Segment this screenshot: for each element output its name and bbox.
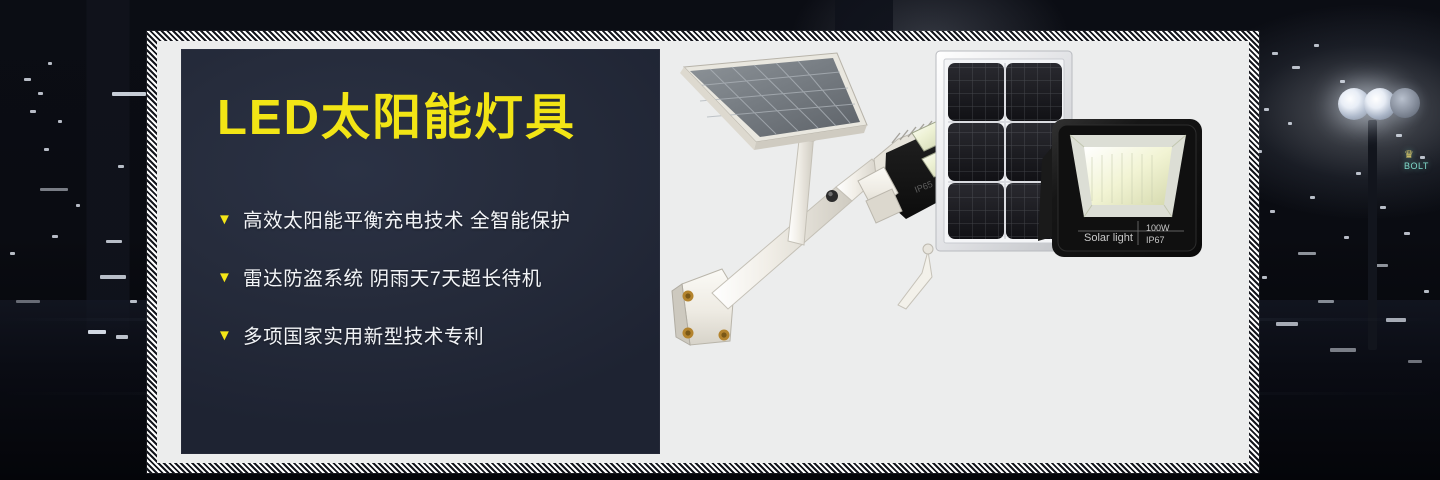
solar-flood-light: Solar light 100W IP67: [1038, 119, 1202, 257]
wall-mount-bracket: [672, 269, 734, 345]
triangle-down-icon: ▼: [217, 270, 243, 285]
sensor-knob: [826, 190, 838, 202]
feature-item-label: 雷达防盗系统 阴雨天7天超长待机: [243, 262, 542, 291]
banner-frame: LED太阳能灯具 ▼ 高效太阳能平衡充电技术 全智能保护 ▼ 雷达防盗系统 阴雨…: [147, 31, 1259, 473]
flood-light-lens: [1084, 147, 1172, 205]
product-illustrations: IP65: [660, 41, 1249, 463]
banner-frame-inner: LED太阳能灯具 ▼ 高效太阳能平衡充电技术 全智能保护 ▼ 雷达防盗系统 阴雨…: [157, 41, 1249, 463]
triangle-down-icon: ▼: [217, 328, 243, 343]
street-light-solar-panel: [680, 53, 867, 150]
triangle-down-icon: ▼: [217, 212, 243, 227]
billboard-sign: ♛ BOLT: [1404, 148, 1440, 171]
feature-item-label: 高效太阳能平衡充电技术 全智能保护: [243, 204, 571, 233]
lamp-globe-right: [1390, 88, 1420, 118]
crown-icon: ♛: [1404, 149, 1414, 161]
flood-light-watt-label: 100W: [1146, 223, 1170, 233]
promo-banner: ♛ BOLT LED太阳能灯具 ▼ 高效太阳能平衡充电技术 全智能保护 ▼ 雷达…: [0, 0, 1440, 480]
page-title: LED太阳能灯具: [217, 94, 576, 143]
panel-kickstand: [898, 251, 932, 309]
lamp-post: [1368, 120, 1377, 350]
feature-item-label: 多项国家实用新型技术专利: [243, 320, 484, 349]
billboard-text: BOLT: [1404, 161, 1429, 171]
product-showcase: IP65: [660, 41, 1249, 463]
feature-item: ▼ 多项国家实用新型技术专利: [217, 305, 646, 363]
flood-light-brand-label: Solar light: [1084, 232, 1133, 244]
feature-list: ▼ 高效太阳能平衡充电技术 全智能保护 ▼ 雷达防盗系统 阴雨天7天超长待机 ▼…: [217, 189, 646, 363]
headline-panel: LED太阳能灯具 ▼ 高效太阳能平衡充电技术 全智能保护 ▼ 雷达防盗系统 阴雨…: [181, 49, 660, 454]
feature-item: ▼ 高效太阳能平衡充电技术 全智能保护: [217, 189, 646, 247]
flood-light-ip-label: IP67: [1146, 235, 1165, 245]
feature-item: ▼ 雷达防盗系统 阴雨天7天超长待机: [217, 247, 646, 305]
